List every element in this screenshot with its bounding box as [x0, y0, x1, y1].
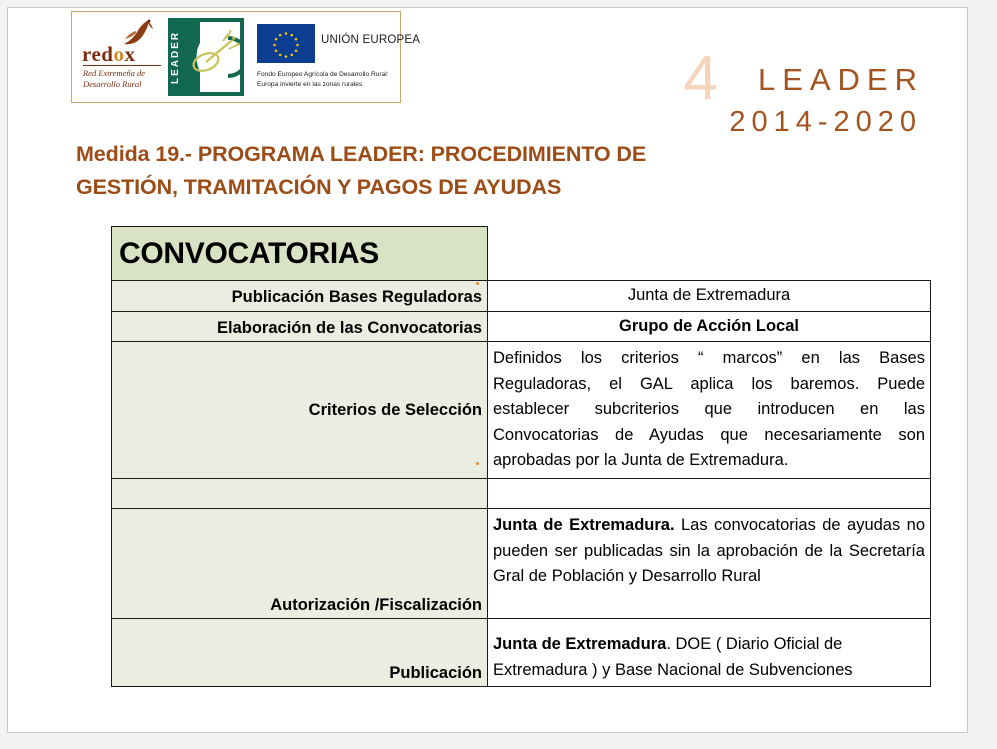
redox-subtitle-line1: Red Extremeña de — [83, 68, 167, 79]
leader-logo: LEADER — [168, 18, 244, 96]
table-row: Elaboración de las Convocatorias Grupo d… — [112, 311, 931, 342]
row-value: Definidos los criterios “ marcos” en las… — [488, 342, 931, 479]
brand-name: LEADER — [758, 64, 924, 95]
eu-logo: UNIÓN EUROPEA Fondo Europeo Agrícola de … — [257, 20, 397, 110]
redox-divider — [83, 65, 161, 66]
table-row: Autorización /Fiscalización Junta de Ext… — [112, 509, 931, 619]
table-row: Publicación Junta de Extremadura. DOE ( … — [112, 619, 931, 687]
convocatorias-table: CONVOCATORIAS Publicación Bases Regulado… — [111, 226, 931, 687]
eu-subtitle-line1: Fondo Europeo Agrícola de Desarrollo Rur… — [257, 70, 397, 80]
eu-subtitle-line2: Europa invierte en las zonas rurales — [257, 80, 397, 90]
brand-top-line: 4 LEADER — [729, 52, 924, 108]
redox-logo: redox Red Extremeña de Desarrollo Rural — [78, 12, 164, 102]
row-label: Elaboración de las Convocatorias — [112, 311, 488, 342]
slide-canvas: redox Red Extremeña de Desarrollo Rural … — [7, 7, 968, 733]
row-label: Publicación — [112, 619, 488, 687]
row-value: Junta de Extremadura. Las convocatorias … — [488, 509, 931, 619]
logo-bar: redox Red Extremeña de Desarrollo Rural … — [71, 11, 401, 103]
leader-period-brand: 4 LEADER 2014-2020 — [729, 52, 924, 137]
table-header-label: CONVOCATORIAS — [119, 237, 379, 270]
eu-title: UNIÓN EUROPEA — [321, 34, 420, 46]
table-row: Criterios de Selección Definidos los cri… — [112, 342, 931, 479]
row-label: Publicación Bases Reguladoras — [112, 281, 488, 312]
redox-subtitle: Red Extremeña de Desarrollo Rural — [83, 68, 167, 89]
row-value-empty — [488, 479, 931, 509]
row-label-empty — [112, 479, 488, 509]
eu-flag-icon — [257, 24, 315, 63]
brand-period: 2014-2020 — [729, 108, 924, 137]
redox-word-dot: o — [113, 42, 124, 66]
redox-subtitle-line2: Desarrollo Rural — [83, 79, 167, 90]
table-row-spacer — [112, 479, 931, 509]
redox-word-before: red — [82, 42, 113, 66]
page-title: Medida 19.- PROGRAMA LEADER: PROCEDIMIEN… — [76, 138, 736, 203]
row-label: Autorización /Fiscalización — [112, 509, 488, 619]
row-value-lead: Junta de Extremadura — [493, 635, 666, 653]
table-header-spacer — [488, 227, 931, 281]
table-header-cell: CONVOCATORIAS — [112, 227, 488, 281]
row-value: Junta de Extremadura. DOE ( Diario Ofici… — [488, 619, 931, 687]
row-value: Junta de Extremadura — [488, 281, 931, 312]
divider-marker-icon — [476, 462, 479, 465]
eu-subtitle: Fondo Europeo Agrícola de Desarrollo Rur… — [257, 70, 397, 90]
row-value-lead: Junta de Extremadura. — [493, 516, 675, 534]
table-row: Publicación Bases Reguladoras Junta de E… — [112, 281, 931, 312]
redox-word-after: x — [124, 42, 135, 66]
brand-numeral: 4 — [684, 48, 718, 110]
redox-wordmark: redox — [82, 44, 164, 65]
row-value: Grupo de Acción Local — [488, 311, 931, 342]
leader-emblem-icon — [182, 22, 244, 92]
row-label: Criterios de Selección — [112, 342, 488, 479]
table-header-row: CONVOCATORIAS — [112, 227, 931, 281]
divider-marker-icon — [476, 282, 479, 285]
